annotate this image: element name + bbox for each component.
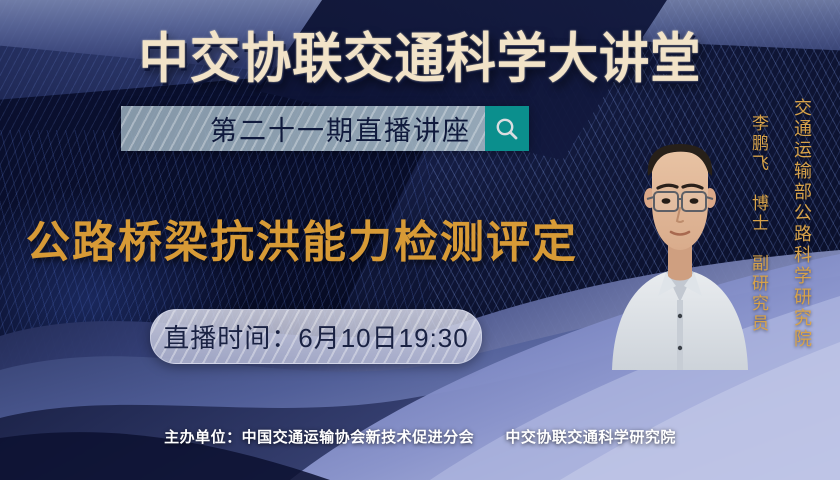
speaker-portrait — [606, 120, 754, 370]
episode-banner-fill: 第二十一期直播讲座 — [121, 106, 485, 151]
lecture-topic-title: 公路桥梁抗洪能力检测评定 — [26, 206, 578, 270]
footer-organizer-primary: 主办单位：中国交通运输协会新技术促进分会 — [164, 429, 474, 446]
episode-label: 第二十一期直播讲座 — [210, 109, 485, 148]
search-icon-box[interactable] — [485, 106, 529, 151]
footer-organizers: 主办单位：中国交通运输协会新技术促进分会 中交协联交通科学研究院 — [0, 426, 840, 447]
live-event-poster: 中交协联交通科学大讲堂 第二十一期直播讲座 公路桥梁抗洪能力检测评定 直播时间：… — [0, 0, 840, 480]
search-icon — [494, 116, 520, 142]
broadcast-time-label: 直播时间：6月10日19:30 — [163, 318, 468, 355]
speaker-organization: 交通运输部公路科学研究院 — [789, 98, 815, 350]
footer-organizer-secondary: 中交协联交通科学研究院 — [505, 429, 676, 446]
broadcast-time-badge: 直播时间：6月10日19:30 — [150, 309, 482, 364]
speaker-name-title: 李鹏飞 博士 副研究员 — [746, 114, 771, 334]
episode-banner: 第二十一期直播讲座 — [121, 106, 529, 151]
page-title: 中交协联交通科学大讲堂 — [29, 14, 810, 93]
